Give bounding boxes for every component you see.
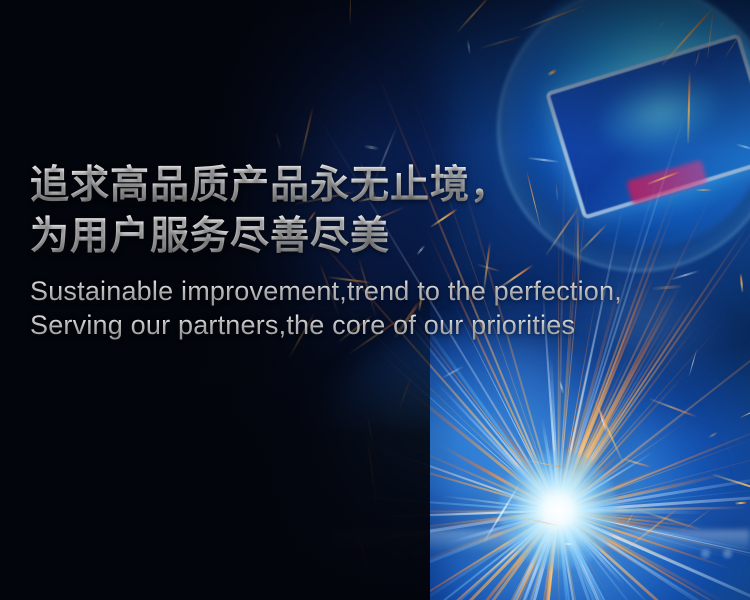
spark-ray xyxy=(557,511,600,600)
spark-ray xyxy=(557,511,595,563)
drifting-spark xyxy=(622,458,651,468)
spark-ray xyxy=(430,510,558,530)
spark-ray xyxy=(557,510,611,600)
spark-ray xyxy=(403,510,559,600)
spark-ray xyxy=(516,510,558,522)
drifting-spark xyxy=(457,0,493,33)
spark-ray xyxy=(558,499,645,511)
spark-ray xyxy=(558,487,750,511)
drifting-spark xyxy=(626,512,634,525)
spark-ray xyxy=(557,458,591,512)
drifting-spark xyxy=(353,522,373,583)
spark-ray xyxy=(557,465,620,511)
drifting-spark xyxy=(649,398,698,418)
spark-ray xyxy=(557,511,626,600)
spark-ray xyxy=(558,510,704,600)
spark-ray xyxy=(558,510,750,564)
beam-bolt xyxy=(722,548,733,559)
drifting-spark xyxy=(735,502,747,504)
drifting-spark xyxy=(275,132,281,150)
spark-ray xyxy=(558,510,732,570)
spark-ray xyxy=(558,510,654,538)
spark-ray xyxy=(470,510,559,549)
spark-ray xyxy=(552,434,559,511)
spark-ray xyxy=(526,511,560,600)
spark-ray xyxy=(557,477,602,512)
spark-ray xyxy=(557,510,717,600)
spark-ray xyxy=(454,510,559,543)
spark-ray xyxy=(557,432,671,512)
spark-ray xyxy=(558,510,626,534)
spark-ray xyxy=(417,511,559,600)
spark-ray xyxy=(557,448,641,512)
drifting-spark xyxy=(300,106,315,161)
spark-ray xyxy=(379,510,559,600)
spark-ray xyxy=(508,510,559,529)
spark-ray xyxy=(536,510,558,600)
spark-ray xyxy=(558,510,607,514)
spark-ray xyxy=(558,506,748,512)
spark-ray xyxy=(557,511,608,600)
welding-hero-banner: 追求高品质产品永无止境， 为用户服务尽善尽美 Sustainable impro… xyxy=(0,0,750,600)
spark-ray xyxy=(557,511,618,600)
spark-ray xyxy=(532,511,559,600)
drifting-spark xyxy=(480,35,524,50)
spark-ray xyxy=(527,482,558,512)
spark-ray xyxy=(535,511,559,600)
spark-ray xyxy=(557,478,583,511)
spark-ray xyxy=(557,451,653,512)
spark-ray xyxy=(557,443,559,510)
spark-ray xyxy=(558,510,705,514)
spark-ray xyxy=(490,511,559,600)
spark-ray xyxy=(558,472,750,513)
drifting-spark xyxy=(503,513,560,527)
spark-ray xyxy=(558,510,717,580)
spark-ray xyxy=(373,510,559,600)
spark-ray xyxy=(491,510,558,576)
spark-ray xyxy=(558,465,583,511)
spark-ray xyxy=(385,510,559,600)
spark-ray xyxy=(558,510,736,600)
slogan-block: 追求高品质产品永无止境， 为用户服务尽善尽美 Sustainable impro… xyxy=(30,160,730,342)
spark-ray xyxy=(558,491,750,513)
spark-ray xyxy=(558,510,695,521)
spark-ray xyxy=(557,511,587,562)
spark-ray xyxy=(452,511,559,600)
spark-ray xyxy=(557,510,715,600)
drifting-spark xyxy=(695,50,701,67)
spark-ray xyxy=(558,510,703,529)
spark-ray xyxy=(557,511,624,600)
spark-ray xyxy=(470,510,559,547)
spark-ray xyxy=(557,510,653,600)
spark-ray xyxy=(557,510,750,600)
spark-ray xyxy=(558,472,729,513)
spark-ray xyxy=(558,466,664,513)
spark-ray xyxy=(558,510,664,539)
spark-ray xyxy=(492,511,559,600)
spark-ray xyxy=(556,454,559,511)
slogan-english-line-1: Sustainable improvement,trend to the per… xyxy=(30,274,730,308)
spark-ray xyxy=(492,510,559,526)
spark-ray xyxy=(557,510,641,567)
beam-bolt xyxy=(390,548,401,559)
spark-ray xyxy=(558,510,733,559)
spark-ray xyxy=(488,510,559,577)
spark-ray xyxy=(558,510,706,534)
spark-ray xyxy=(557,511,566,573)
spark-ray xyxy=(557,510,650,600)
drifting-spark xyxy=(637,509,702,531)
top-vignette xyxy=(0,0,750,150)
spark-ray xyxy=(557,511,654,600)
slogan-chinese-line-1: 追求高品质产品永无止境， xyxy=(30,160,730,211)
spark-ray xyxy=(557,511,565,571)
spark-ray xyxy=(513,510,558,520)
spark-ray xyxy=(468,510,559,600)
spark-ray xyxy=(437,510,558,600)
visor-reflection-glow xyxy=(592,62,727,164)
spark-ray xyxy=(557,510,682,600)
spark-ray xyxy=(558,510,602,522)
spark-ray xyxy=(558,510,750,566)
spark-ray xyxy=(558,443,750,511)
spark-ray xyxy=(558,510,601,525)
drifting-spark xyxy=(564,543,573,546)
spark-ray xyxy=(558,510,677,533)
spark-ray xyxy=(557,451,622,512)
spark-ray xyxy=(452,511,559,600)
spark-ray xyxy=(558,491,617,513)
spark-ray xyxy=(356,510,559,592)
slogan-english-block: Sustainable improvement,trend to the per… xyxy=(30,274,730,342)
spark-ray xyxy=(524,439,559,511)
spark-ray xyxy=(557,511,576,600)
beam-bolt xyxy=(700,548,711,559)
spark-ray xyxy=(498,510,559,563)
drifting-spark xyxy=(740,407,750,418)
drifting-spark xyxy=(350,0,352,24)
spark-ray xyxy=(517,510,559,600)
drifting-spark xyxy=(707,10,714,59)
spark-ray xyxy=(557,510,641,562)
spark-ray xyxy=(485,510,559,585)
spark-ray xyxy=(499,511,560,600)
spark-ray xyxy=(447,510,559,544)
spark-ray xyxy=(558,510,750,552)
drifting-spark xyxy=(526,460,569,470)
drifting-spark xyxy=(467,39,471,54)
spark-ray xyxy=(496,510,559,554)
spark-ray xyxy=(558,510,723,600)
spark-ray xyxy=(558,437,750,512)
drifting-spark xyxy=(364,145,379,150)
spark-ray xyxy=(510,511,559,600)
spark-ray xyxy=(557,510,733,600)
spark-ray xyxy=(557,511,588,555)
spark-ray xyxy=(557,511,568,599)
spark-ray xyxy=(557,511,581,600)
drifting-spark xyxy=(724,30,743,58)
spark-ray xyxy=(483,511,559,600)
drifting-spark xyxy=(626,507,679,550)
drifting-spark xyxy=(687,71,691,143)
spark-ray xyxy=(520,511,560,600)
drifting-spark xyxy=(736,143,750,150)
spark-ray xyxy=(557,510,610,550)
metal-workpiece-beam xyxy=(330,530,750,552)
spark-ray xyxy=(557,511,586,600)
spark-ray xyxy=(347,510,558,600)
spark-ray xyxy=(525,511,559,576)
spark-ray xyxy=(557,510,626,586)
spark-ray xyxy=(388,510,558,575)
spark-ray xyxy=(509,478,558,512)
spark-ray xyxy=(528,479,559,512)
spark-ray xyxy=(558,457,561,511)
spark-ray xyxy=(514,492,558,511)
spark-ray xyxy=(537,511,559,600)
spark-ray xyxy=(505,511,560,600)
spark-ray xyxy=(557,511,587,563)
drifting-spark xyxy=(713,474,750,498)
drifting-spark xyxy=(740,273,744,292)
spark-ray xyxy=(558,426,750,512)
drifting-spark xyxy=(661,6,715,66)
spark-ray xyxy=(558,466,632,511)
spark-ray xyxy=(481,475,558,511)
spark-ray xyxy=(518,510,559,600)
spark-ray xyxy=(557,510,727,600)
drifting-spark xyxy=(547,69,557,76)
drifting-spark xyxy=(520,5,584,31)
spark-ray xyxy=(558,510,617,549)
beam-bolt xyxy=(412,548,423,559)
weld-arc-core xyxy=(498,450,618,570)
spark-ray xyxy=(557,510,627,555)
spark-ray xyxy=(557,510,747,595)
spark-ray xyxy=(557,511,596,600)
drifting-spark xyxy=(483,482,521,542)
spark-ray xyxy=(407,510,559,600)
spark-ray xyxy=(558,506,741,512)
spark-ray xyxy=(558,480,704,512)
spark-ray xyxy=(558,510,605,521)
slogan-chinese-line-2: 为用户服务尽善尽美 xyxy=(30,211,730,262)
drifting-spark xyxy=(681,508,712,532)
spark-ray xyxy=(558,510,560,600)
drifting-spark xyxy=(708,432,718,438)
spark-ray xyxy=(557,510,623,565)
spark-ray xyxy=(557,511,658,600)
spark-ray xyxy=(558,502,637,511)
slogan-english-line-2: Serving our partners,the core of our pri… xyxy=(30,308,730,342)
drifting-spark xyxy=(659,20,666,27)
